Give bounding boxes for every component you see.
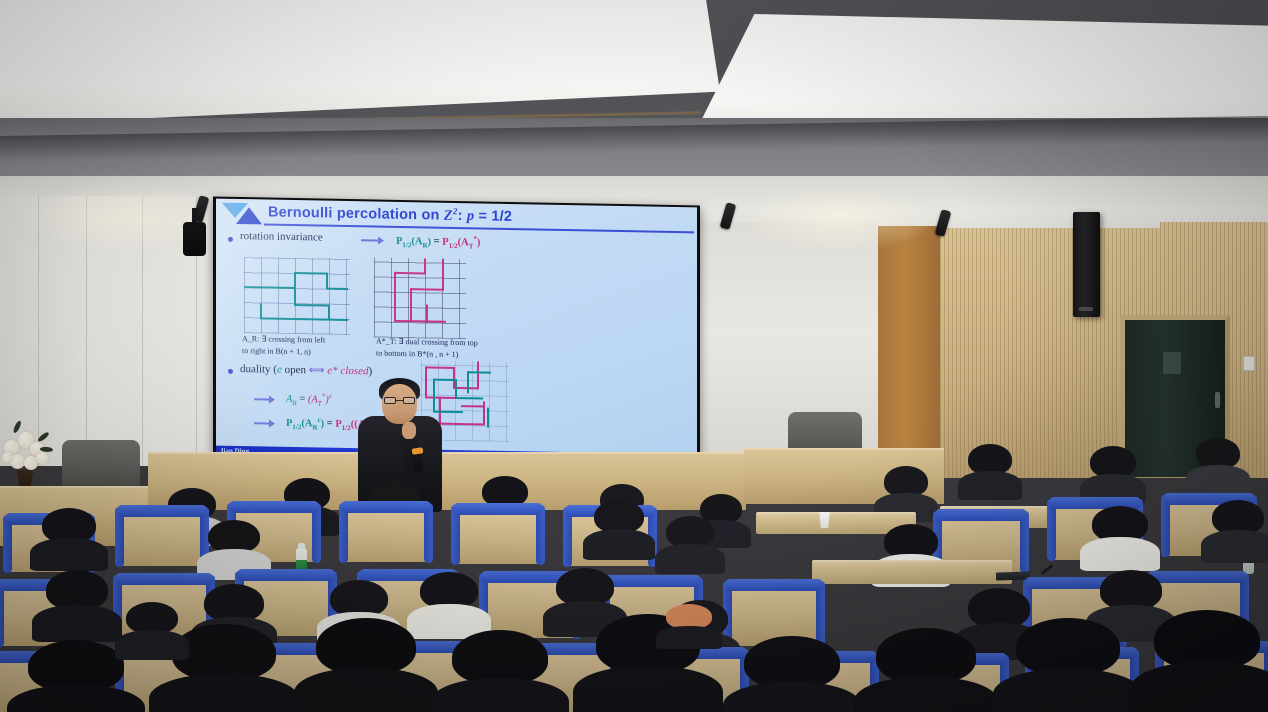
audience-person bbox=[594, 500, 644, 554]
audience-person-foreground bbox=[452, 630, 548, 712]
audience-person bbox=[126, 602, 178, 654]
presenter-hand bbox=[402, 422, 416, 439]
audience-person bbox=[968, 444, 1012, 494]
arrow-icon-3 bbox=[254, 422, 274, 424]
door-handle[interactable] bbox=[1215, 392, 1220, 408]
audience-person bbox=[42, 508, 96, 564]
bullet-icon-2 bbox=[228, 369, 233, 374]
seat[interactable] bbox=[456, 510, 540, 564]
triangle-up-icon bbox=[236, 207, 262, 224]
seat[interactable] bbox=[120, 512, 204, 566]
audience-person bbox=[1212, 500, 1264, 556]
audience-person-foreground bbox=[1154, 610, 1260, 706]
slide-logo-icon bbox=[222, 203, 262, 226]
stage-chair-left[interactable] bbox=[62, 440, 140, 488]
flower-arrangement bbox=[0, 418, 56, 488]
seat[interactable] bbox=[344, 508, 428, 562]
caption-left: A_R: ∃ crossing from left to right in B(… bbox=[242, 333, 325, 358]
audience-person-foreground bbox=[744, 636, 840, 712]
glasses-icon bbox=[384, 397, 415, 404]
brown-wall-panel bbox=[878, 226, 940, 476]
audience-person bbox=[1092, 506, 1148, 564]
presentation-slide: Bernoulli percolation on Z2: p = 1/2 rot… bbox=[216, 199, 697, 466]
audience-person bbox=[1090, 446, 1136, 498]
bullet-icon-1 bbox=[228, 237, 233, 242]
light-switch[interactable] bbox=[1243, 356, 1255, 371]
arrow-icon-2 bbox=[254, 398, 274, 400]
slide-title: Bernoulli percolation on Z2: p = 1/2 bbox=[268, 203, 512, 226]
bullet-1-equation: P1/2(AR) = P1/2(AT*) bbox=[396, 233, 480, 250]
audience-person bbox=[208, 520, 260, 574]
pen bbox=[1041, 564, 1054, 575]
diagram-dual-crossing bbox=[374, 257, 466, 339]
audience-person bbox=[666, 604, 712, 644]
diagram-primal-crossing bbox=[244, 257, 350, 335]
audience-person-foreground bbox=[316, 618, 416, 710]
bullet-1-label: rotation invariance bbox=[240, 230, 323, 244]
sub-equation-1: AR = (AT*)c bbox=[286, 391, 332, 407]
arrow-icon-1 bbox=[361, 239, 383, 241]
audience-person-foreground bbox=[28, 640, 124, 712]
projection-screen: Bernoulli percolation on Z2: p = 1/2 rot… bbox=[213, 197, 700, 468]
lecture-hall-photo: Bernoulli percolation on Z2: p = 1/2 rot… bbox=[0, 0, 1268, 712]
audience-person bbox=[46, 570, 108, 634]
wall-speaker bbox=[1073, 212, 1100, 317]
caption-right: A*_T: ∃ dual crossing from top to bottom… bbox=[376, 336, 478, 361]
audience-person bbox=[420, 572, 478, 632]
presenter-head bbox=[382, 384, 417, 424]
audience-desk bbox=[812, 560, 1012, 584]
audience-person bbox=[666, 516, 714, 568]
audience-person bbox=[884, 466, 928, 516]
audience-person-foreground bbox=[172, 624, 276, 712]
audience-person-foreground bbox=[876, 628, 976, 712]
door-sign bbox=[1163, 352, 1181, 374]
audience-person-foreground bbox=[1016, 618, 1120, 712]
bullet-2-label: duality (e open ⟺ e* closed) bbox=[240, 362, 372, 377]
wall-camera bbox=[183, 222, 206, 256]
audience-person bbox=[1196, 438, 1240, 488]
